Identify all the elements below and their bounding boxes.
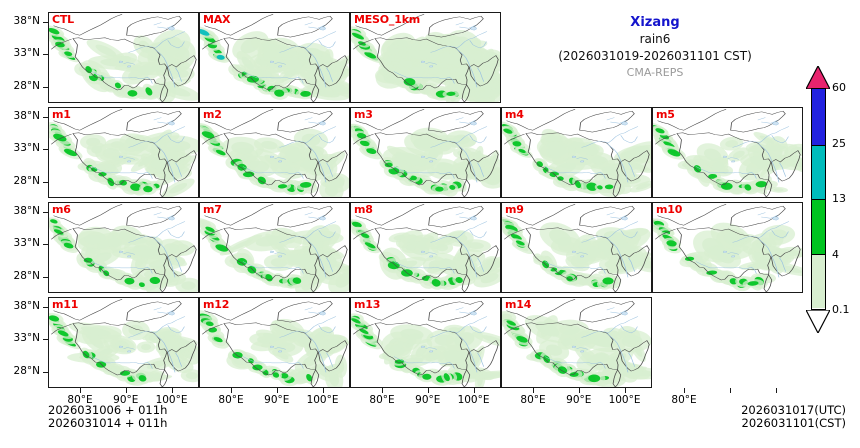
y-axis-label: 33°N bbox=[0, 48, 40, 59]
map-panel-m12: m12 bbox=[199, 297, 350, 388]
y-axis-label: 28°N bbox=[0, 81, 40, 92]
map-panel-m6: m6 bbox=[48, 202, 199, 293]
y-axis-label: 28°N bbox=[0, 366, 40, 377]
panel-label-m14: m14 bbox=[505, 299, 531, 311]
panel-label-meso_1km: MESO_1km bbox=[354, 14, 420, 26]
colorbar-tick-label-13: 13 bbox=[832, 193, 846, 204]
colorbar bbox=[811, 88, 826, 310]
colorbar-tick-label-25: 25 bbox=[832, 138, 846, 149]
map-panel-meso_1km: MESO_1km bbox=[350, 12, 501, 103]
map-canvas bbox=[49, 108, 198, 197]
map-panel-max: MAX bbox=[199, 12, 350, 103]
panel-label-m12: m12 bbox=[203, 299, 229, 311]
x-axis-label: 100°E bbox=[293, 395, 353, 406]
colorbar-over-arrow-outline bbox=[806, 66, 830, 89]
model-title: CMA-REPS bbox=[506, 65, 804, 81]
map-panel-m8: m8 bbox=[350, 202, 501, 293]
colorbar-tick-label-0.1: 0.1 bbox=[832, 304, 850, 315]
panel-label-m8: m8 bbox=[354, 204, 373, 216]
x-axis-label: 80°E bbox=[654, 395, 714, 406]
colorbar-segment-25-60 bbox=[812, 89, 825, 145]
x-axis-tick bbox=[776, 388, 777, 393]
y-axis-tick bbox=[43, 54, 48, 55]
x-axis-tick bbox=[323, 388, 324, 393]
precipitation-ensemble-figure: Xizang rain6 (2026031019-2026031101 CST)… bbox=[0, 0, 860, 448]
y-axis-label: 33°N bbox=[0, 143, 40, 154]
colorbar-under-arrow-outline bbox=[806, 310, 830, 333]
variable-title: rain6 bbox=[506, 31, 804, 48]
y-axis-tick bbox=[43, 339, 48, 340]
y-axis-tick bbox=[43, 277, 48, 278]
colorbar-tick-label-4: 4 bbox=[832, 249, 839, 260]
map-panel-m5: m5 bbox=[652, 107, 803, 198]
period-title: (2026031019-2026031101 CST) bbox=[506, 48, 804, 65]
y-axis-label: 28°N bbox=[0, 176, 40, 187]
map-canvas bbox=[49, 13, 198, 102]
panel-label-ctl: CTL bbox=[52, 14, 74, 26]
figure-title-block: Xizang rain6 (2026031019-2026031101 CST)… bbox=[506, 14, 804, 81]
panel-label-m10: m10 bbox=[656, 204, 682, 216]
y-axis-label: 28°N bbox=[0, 271, 40, 282]
map-canvas bbox=[200, 203, 349, 292]
x-axis-label: 100°E bbox=[142, 395, 202, 406]
map-canvas bbox=[351, 108, 500, 197]
panel-label-m4: m4 bbox=[505, 109, 524, 121]
map-canvas bbox=[653, 108, 802, 197]
x-axis-label: 100°E bbox=[595, 395, 655, 406]
panel-label-m2: m2 bbox=[203, 109, 222, 121]
y-axis-tick bbox=[43, 212, 48, 213]
map-canvas bbox=[502, 203, 651, 292]
map-canvas bbox=[351, 298, 500, 387]
map-canvas bbox=[49, 298, 198, 387]
colorbar-segment-0.1-4 bbox=[812, 254, 825, 309]
x-axis-tick bbox=[80, 388, 81, 393]
x-axis-tick bbox=[579, 388, 580, 393]
y-axis-tick bbox=[43, 149, 48, 150]
panel-label-m5: m5 bbox=[656, 109, 675, 121]
panel-label-m11: m11 bbox=[52, 299, 78, 311]
panel-label-m9: m9 bbox=[505, 204, 524, 216]
panel-label-m13: m13 bbox=[354, 299, 380, 311]
y-axis-label: 38°N bbox=[0, 111, 40, 122]
y-axis-tick bbox=[43, 182, 48, 183]
map-panel-m2: m2 bbox=[199, 107, 350, 198]
footer-left-line2: 2026031014 + 011h bbox=[48, 417, 167, 430]
map-canvas bbox=[502, 298, 651, 387]
y-axis-label: 38°N bbox=[0, 206, 40, 217]
colorbar-tick-label-60: 60 bbox=[832, 82, 846, 93]
x-axis-tick bbox=[277, 388, 278, 393]
x-axis-tick bbox=[231, 388, 232, 393]
map-panel-m10: m10 bbox=[652, 202, 803, 293]
x-axis-tick bbox=[533, 388, 534, 393]
x-axis-tick bbox=[684, 388, 685, 393]
map-canvas bbox=[200, 13, 349, 102]
map-panel-m11: m11 bbox=[48, 297, 199, 388]
y-axis-tick bbox=[43, 372, 48, 373]
map-canvas bbox=[351, 13, 500, 102]
y-axis-tick bbox=[43, 87, 48, 88]
panel-label-max: MAX bbox=[203, 14, 230, 26]
map-canvas bbox=[502, 108, 651, 197]
map-panel-ctl: CTL bbox=[48, 12, 199, 103]
y-axis-tick bbox=[43, 244, 48, 245]
map-panel-m4: m4 bbox=[501, 107, 652, 198]
y-axis-tick bbox=[43, 117, 48, 118]
y-axis-tick bbox=[43, 307, 48, 308]
region-title: Xizang bbox=[506, 14, 804, 31]
map-panel-m3: m3 bbox=[350, 107, 501, 198]
x-axis-tick bbox=[428, 388, 429, 393]
x-axis-tick bbox=[730, 388, 731, 393]
x-axis-tick bbox=[172, 388, 173, 393]
y-axis-label: 33°N bbox=[0, 238, 40, 249]
map-canvas bbox=[351, 203, 500, 292]
x-axis-tick bbox=[474, 388, 475, 393]
x-axis-label: 100°E bbox=[444, 395, 504, 406]
panel-label-m6: m6 bbox=[52, 204, 71, 216]
panel-label-m3: m3 bbox=[354, 109, 373, 121]
y-axis-label: 38°N bbox=[0, 301, 40, 312]
map-panel-m13: m13 bbox=[350, 297, 501, 388]
y-axis-label: 38°N bbox=[0, 16, 40, 27]
x-axis-tick bbox=[126, 388, 127, 393]
panel-label-m7: m7 bbox=[203, 204, 222, 216]
colorbar-segment-13-25 bbox=[812, 145, 825, 200]
y-axis-label: 33°N bbox=[0, 333, 40, 344]
map-panel-m14: m14 bbox=[501, 297, 652, 388]
x-axis-tick bbox=[382, 388, 383, 393]
y-axis-tick bbox=[43, 22, 48, 23]
map-panel-m7: m7 bbox=[199, 202, 350, 293]
map-panel-m1: m1 bbox=[48, 107, 199, 198]
map-canvas bbox=[200, 108, 349, 197]
map-canvas bbox=[653, 203, 802, 292]
x-axis-tick bbox=[625, 388, 626, 393]
footer-right-line2: 2026031101(CST) bbox=[742, 417, 847, 430]
map-canvas bbox=[49, 203, 198, 292]
panel-label-m1: m1 bbox=[52, 109, 71, 121]
colorbar-segment-4-13 bbox=[812, 199, 825, 254]
map-canvas bbox=[200, 298, 349, 387]
map-panel-m9: m9 bbox=[501, 202, 652, 293]
